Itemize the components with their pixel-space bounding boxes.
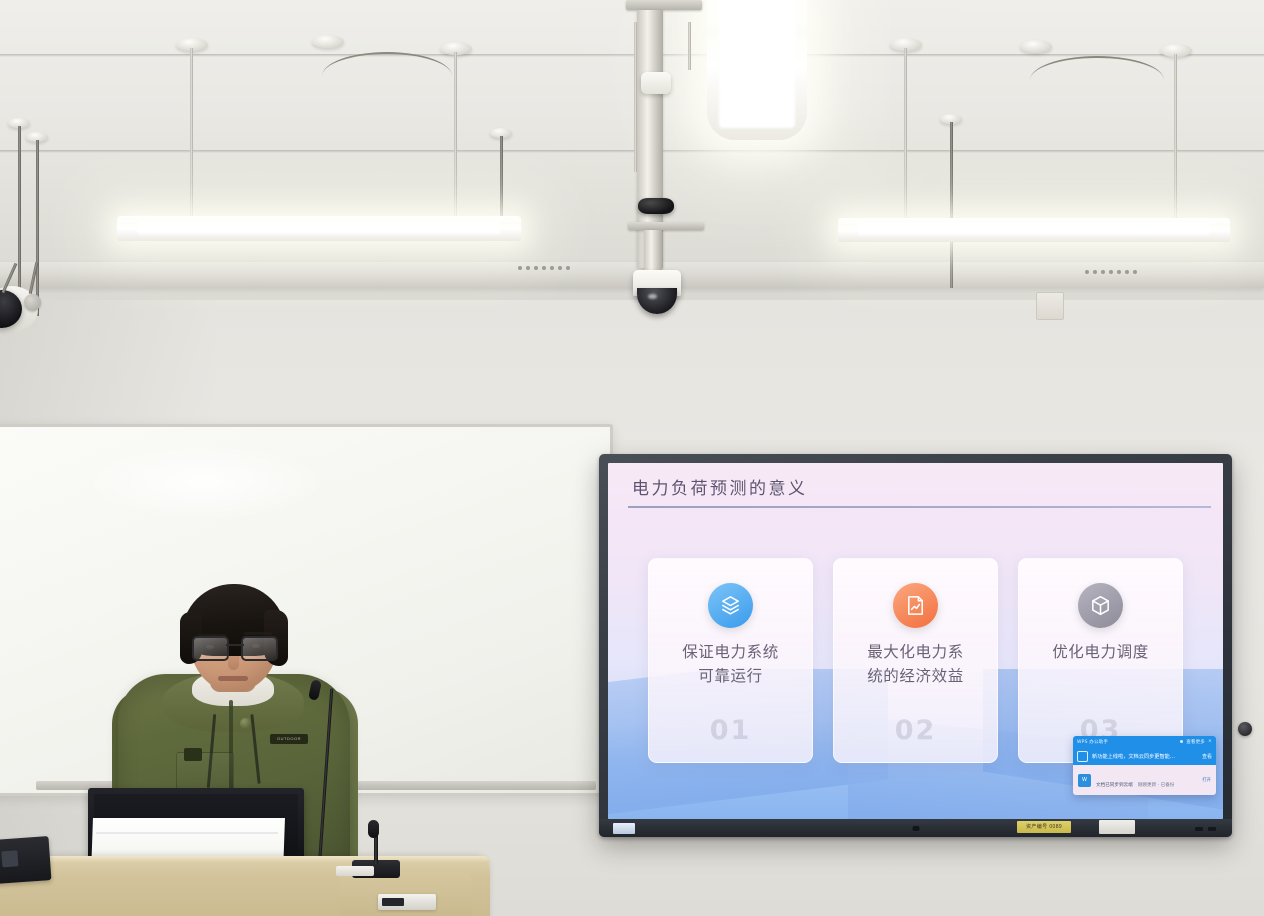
ceiling-vent-strip: [1085, 270, 1137, 274]
projector-support-rod: [688, 22, 691, 70]
asset-sticker-text: 资产编号 0089: [1017, 821, 1071, 833]
projector-lens: [638, 198, 674, 214]
fluorescent-tube-left: [117, 216, 521, 241]
popup-main-text: 新功能上线啦，文档云同步更智能…: [1092, 753, 1198, 760]
title-divider: [628, 506, 1211, 508]
light-support-rod: [1174, 54, 1177, 220]
card-number: 02: [834, 715, 997, 746]
projector-mount-plate: [626, 0, 702, 10]
mouth: [218, 676, 248, 681]
display-side-knob[interactable]: [1238, 722, 1252, 736]
popup-main-row[interactable]: 新功能上线啦，文档云同步更智能… 查看: [1073, 747, 1216, 765]
card-text-line-2: 可靠运行: [682, 665, 779, 689]
ir-receiver: [912, 826, 919, 831]
ceiling-beam: [0, 262, 1264, 288]
display-brand-badge: [613, 823, 635, 834]
notification-popup[interactable]: WPS 办公助手 查看更多 × 新功能上线啦，文档云同步更智能… 查看 W 文档…: [1073, 736, 1216, 795]
display-screen[interactable]: 电力负荷预测的意义 保证电力系统 可靠运行: [608, 463, 1223, 819]
paper-fold-line: [96, 832, 278, 834]
jacket-pocket-flap: [184, 748, 202, 761]
projector-body: [641, 72, 671, 94]
fluorescent-tube-center: [707, 0, 807, 140]
card-text-line-1: 优化电力调度: [1052, 641, 1149, 665]
light-support-rod: [190, 48, 193, 220]
fluorescent-tube-right: [838, 218, 1230, 242]
display-label: [1099, 820, 1135, 834]
popup-main-button[interactable]: 查看: [1202, 753, 1212, 760]
interactive-display[interactable]: 电力负荷预测的意义 保证电力系统 可靠运行: [599, 454, 1232, 837]
card-text: 最大化电力系 统的经济效益: [867, 641, 964, 688]
desk-microphone-head: [368, 820, 379, 838]
layers-icon: [708, 583, 753, 628]
popup-header-action[interactable]: 查看更多: [1186, 739, 1205, 745]
popup-status-dot: [1180, 740, 1183, 743]
page-title: 电力负荷预测的意义: [632, 474, 808, 499]
popup-body-action[interactable]: 打开: [1202, 777, 1211, 783]
eyebrow: [244, 632, 272, 635]
projector-mount-plate: [628, 222, 704, 230]
chart-document-icon: [893, 583, 938, 628]
slide-card-03[interactable]: 优化电力调度 03: [1018, 558, 1183, 763]
podium-edge: [0, 856, 490, 863]
card-text: 保证电力系统 可靠运行: [682, 641, 779, 688]
glasses-lens: [192, 636, 229, 661]
slide-title-row: 电力负荷预测的意义: [608, 463, 1223, 505]
light-support-rod: [454, 52, 457, 220]
popup-body-title: 文档已同步到云端: [1096, 783, 1133, 788]
light-support-rod: [950, 122, 953, 288]
jacket-tag-text: OUTDOOR: [270, 734, 308, 744]
light-support-rod: [904, 48, 907, 220]
jacket-button: [240, 718, 251, 729]
card-text-line-1: 最大化电力系: [867, 641, 964, 665]
popup-body-subtitle: 刚刚更新 · 已备份: [1138, 783, 1175, 788]
card-number: 01: [649, 715, 812, 746]
wall-outlet-panel: [1036, 292, 1064, 320]
card-text: 优化电力调度: [1052, 641, 1149, 665]
camera-mount-arm: [644, 230, 662, 270]
card-text-line-2: 统的经济效益: [867, 665, 964, 689]
popup-body[interactable]: W 文档已同步到云端 刚刚更新 · 已备份 打开: [1073, 765, 1216, 795]
classroom-presentation-photo: 电力负荷预测的意义 保证电力系统 可靠运行: [0, 0, 1264, 916]
eyeglasses: [192, 636, 278, 658]
asset-sticker: 资产编号 0089: [1017, 821, 1071, 833]
slide-card-01[interactable]: 保证电力系统 可靠运行 01: [648, 558, 813, 763]
card-group: 保证电力系统 可靠运行 01 最大化电力系: [608, 558, 1223, 763]
light-power-wire: [322, 52, 452, 100]
popup-header-title: WPS 办公助手: [1077, 739, 1108, 745]
light-power-wire: [1030, 56, 1164, 104]
jacket-chest-tag: OUTDOOR: [270, 734, 308, 744]
whiteboard-glare: [73, 442, 335, 523]
light-ceiling-mount: [312, 35, 344, 48]
podium-left-device[interactable]: [0, 836, 51, 884]
slide-card-02[interactable]: 最大化电力系 统的经济效益 02: [833, 558, 998, 763]
projector-support-rod: [634, 22, 637, 172]
podium-control-plate[interactable]: [336, 866, 374, 876]
glasses-lens: [241, 636, 278, 661]
light-ceiling-mount: [1020, 40, 1052, 53]
light-support-rod: [36, 140, 39, 316]
cube-icon: [1078, 583, 1123, 628]
card-text-line-1: 保证电力系统: [682, 641, 779, 665]
desk-control-device[interactable]: [378, 894, 436, 910]
camera-glint: [648, 294, 657, 299]
ceiling-vent-strip: [518, 266, 570, 270]
document-icon: W: [1078, 774, 1091, 787]
nose: [228, 656, 239, 670]
glasses-bridge: [226, 644, 244, 646]
cloud-sync-icon: [1077, 751, 1088, 762]
light-support-rod: [500, 136, 503, 228]
popup-header: WPS 办公助手 查看更多 ×: [1073, 736, 1216, 747]
camera-sensor-disc: [24, 294, 41, 311]
display-ports: [1195, 827, 1216, 831]
close-icon[interactable]: ×: [1208, 739, 1212, 744]
light-support-rod: [18, 126, 21, 310]
